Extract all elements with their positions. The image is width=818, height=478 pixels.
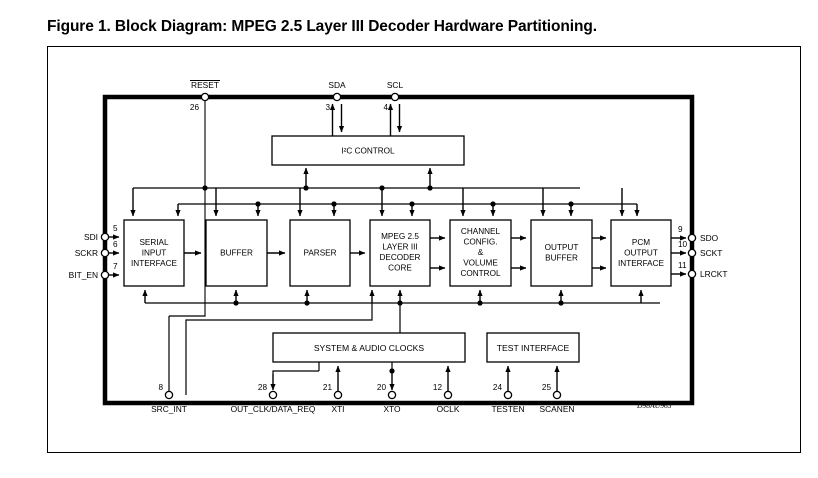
block-label-system-clocks: SYSTEM & AUDIO CLOCKS (314, 343, 425, 353)
pin-label-src-int: SRC_INT (151, 404, 187, 414)
block-i2c-control: I²C CONTROL (272, 136, 464, 165)
block-system-audio-clocks: SYSTEM & AUDIO CLOCKS (273, 333, 465, 362)
pin-number-scanen: 25 (542, 383, 552, 392)
pin-sckr: SCKR 6 (75, 240, 119, 258)
block-output-buffer: OUTPUT BUFFER (531, 220, 592, 286)
pin-label-xti: XTI (331, 404, 344, 414)
pin-scanen: SCANEN 25 (540, 366, 575, 414)
document-code-label: D98AU965 (636, 401, 672, 410)
pin-label-sda: SDA (328, 80, 346, 90)
pin-number-xto: 20 (377, 383, 387, 392)
pin-label-lrckt: LRCKT (700, 269, 727, 279)
pin-number-scl: 4 (383, 103, 388, 112)
block-label-chan-1: CHANNEL (461, 227, 501, 236)
pin-testen: TESTEN 24 (487, 366, 529, 414)
pin-label-scanen: SCANEN (540, 404, 575, 414)
block-label-core-1: MPEG 2.5 (381, 232, 419, 241)
pin-xti: XTI 21 (323, 366, 345, 414)
pin-label-scl: SCL (387, 80, 404, 90)
block-label-serial-2: INPUT (142, 249, 167, 258)
block-label-serial-3: INTERFACE (131, 259, 177, 268)
pin-label-sckt: SCKT (700, 248, 722, 258)
block-label-pcm-3: INTERFACE (618, 259, 664, 268)
block-label-test-interface: TEST INTERFACE (497, 343, 570, 353)
block-pcm-output-interface: PCM OUTPUT INTERFACE (611, 220, 671, 286)
pin-bit-en: BIT_EN 7 (69, 262, 119, 280)
pin-label-sdi: SDI (84, 232, 98, 242)
wires-upper-bus-drops (133, 188, 622, 216)
block-decoder-core: MPEG 2.5 LAYER III DECODER CORE (370, 220, 430, 286)
pin-number-sdi: 5 (113, 224, 118, 233)
pin-label-testen: TESTEN (491, 404, 524, 414)
figure-container: Figure 1. Block Diagram: MPEG 2.5 Layer … (0, 0, 818, 478)
pin-label-xto: XTO (383, 404, 401, 414)
block-label-core-3: DECODER (380, 253, 421, 262)
block-diagram-svg: RESET 26 SDA 3 SCL 4 I²C CONTROL (0, 0, 818, 478)
pin-label-bit-en: BIT_EN (69, 270, 98, 280)
pin-number-out-clk-data-req: 28 (258, 383, 268, 392)
pin-label-out-clk-data-req: OUT_CLK/DATA_REQ (231, 404, 316, 414)
block-parser: PARSER (290, 220, 350, 286)
block-label-chan-5: CONTROL (460, 269, 500, 278)
pin-number-sckr: 6 (113, 240, 118, 249)
pin-number-oclk: 12 (433, 383, 443, 392)
pin-number-sckt: 10 (678, 240, 688, 249)
block-test-interface: TEST INTERFACE (487, 333, 579, 362)
block-label-parser: PARSER (303, 249, 336, 258)
pin-number-src-int: 8 (158, 383, 163, 392)
block-label-outbuf-1: OUTPUT (545, 243, 579, 252)
pin-number-reset: 26 (190, 103, 200, 112)
block-label-core-2: LAYER III (382, 243, 417, 252)
pin-sda: SDA 3 (325, 80, 346, 136)
block-buffer: BUFFER (206, 220, 267, 286)
pin-number-sda: 3 (325, 103, 330, 112)
block-serial-input-interface: SERIAL INPUT INTERFACE (124, 220, 184, 286)
block-label-chan-4: VOLUME (463, 259, 498, 268)
block-channel-volume-control: CHANNEL CONFIG. & VOLUME CONTROL (450, 220, 511, 286)
pin-src-int: SRC_INT 8 (148, 315, 205, 414)
pin-number-bit-en: 7 (113, 262, 118, 271)
block-label-chan-2: CONFIG. (463, 238, 497, 247)
pin-number-xti: 21 (323, 383, 333, 392)
block-label-core-4: CORE (388, 264, 412, 273)
pin-label-reset: RESET (191, 80, 219, 90)
wires-bottom-bus-up (145, 290, 641, 303)
pin-label-sdo: SDO (700, 233, 719, 243)
block-label-serial-1: SERIAL (139, 238, 169, 247)
pin-label-oclk: OCLK (437, 404, 460, 414)
block-label-i2c-control: I²C CONTROL (341, 147, 395, 156)
pin-label-sckr: SCKR (75, 248, 98, 258)
wires-lower-bus-drops (178, 204, 637, 216)
block-label-buffer: BUFFER (220, 249, 253, 258)
block-label-pcm-2: OUTPUT (624, 249, 658, 258)
block-label-pcm-1: PCM (632, 238, 650, 247)
pin-out-clk-data-req: OUT_CLK/DATA_REQ 28 (231, 362, 319, 414)
pin-number-testen: 24 (493, 383, 503, 392)
block-label-chan-3: & (478, 248, 484, 257)
pin-lrckt: LRCKT 11 (671, 261, 727, 279)
pin-number-lrckt: 11 (678, 261, 687, 270)
pin-scl: SCL 4 (383, 80, 403, 136)
pin-oclk: OCLK 12 (433, 366, 460, 414)
block-label-outbuf-2: BUFFER (545, 254, 578, 263)
pin-number-sdo: 9 (678, 225, 683, 234)
pin-xto: XTO 20 (377, 362, 401, 414)
